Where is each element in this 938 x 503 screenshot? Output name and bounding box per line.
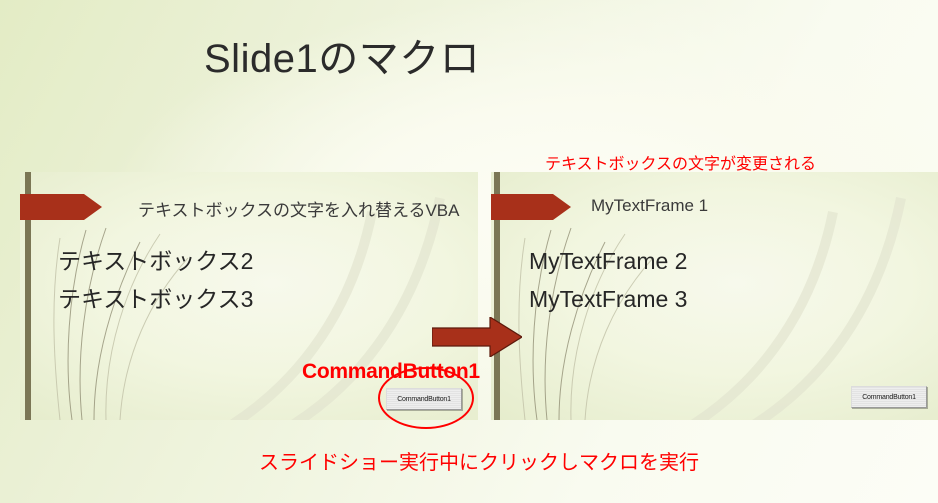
slide-text-line: テキストボックス2 — [58, 248, 253, 274]
slide-banner-arrow-icon — [491, 194, 553, 220]
slide-text-line: MyTextFrame 3 — [529, 286, 687, 312]
annotation-command-button-label: CommandButton1 — [302, 360, 480, 384]
slide-panel-after[interactable]: MyTextFrame 1 MyTextFrame 2 MyTextFrame … — [491, 172, 938, 420]
slide-text-line: MyTextFrame 2 — [529, 248, 687, 274]
annotation-bottom-note: スライドショー実行中にクリックしマクロを実行 — [259, 446, 699, 475]
command-button-1-right[interactable]: CommandButton1 — [851, 386, 927, 408]
slide-text-line: テキストボックス3 — [58, 286, 253, 312]
slide-body-before: テキストボックス2 テキストボックス3 — [58, 248, 253, 313]
slide-figure-canvas: Slide1のマクロ テキストボックスの文字を入れ替えるVBA テキストボックス — [0, 0, 938, 503]
slide-banner-arrow-icon — [20, 194, 84, 220]
slide-heading-after: MyTextFrame 1 — [591, 196, 708, 216]
page-title: Slide1のマクロ — [204, 26, 480, 84]
slide-body-after: MyTextFrame 2 MyTextFrame 3 — [529, 248, 687, 313]
slide-heading-before: テキストボックスの文字を入れ替えるVBA — [138, 196, 460, 221]
annotation-change-note: テキストボックスの文字が変更される — [545, 150, 816, 174]
